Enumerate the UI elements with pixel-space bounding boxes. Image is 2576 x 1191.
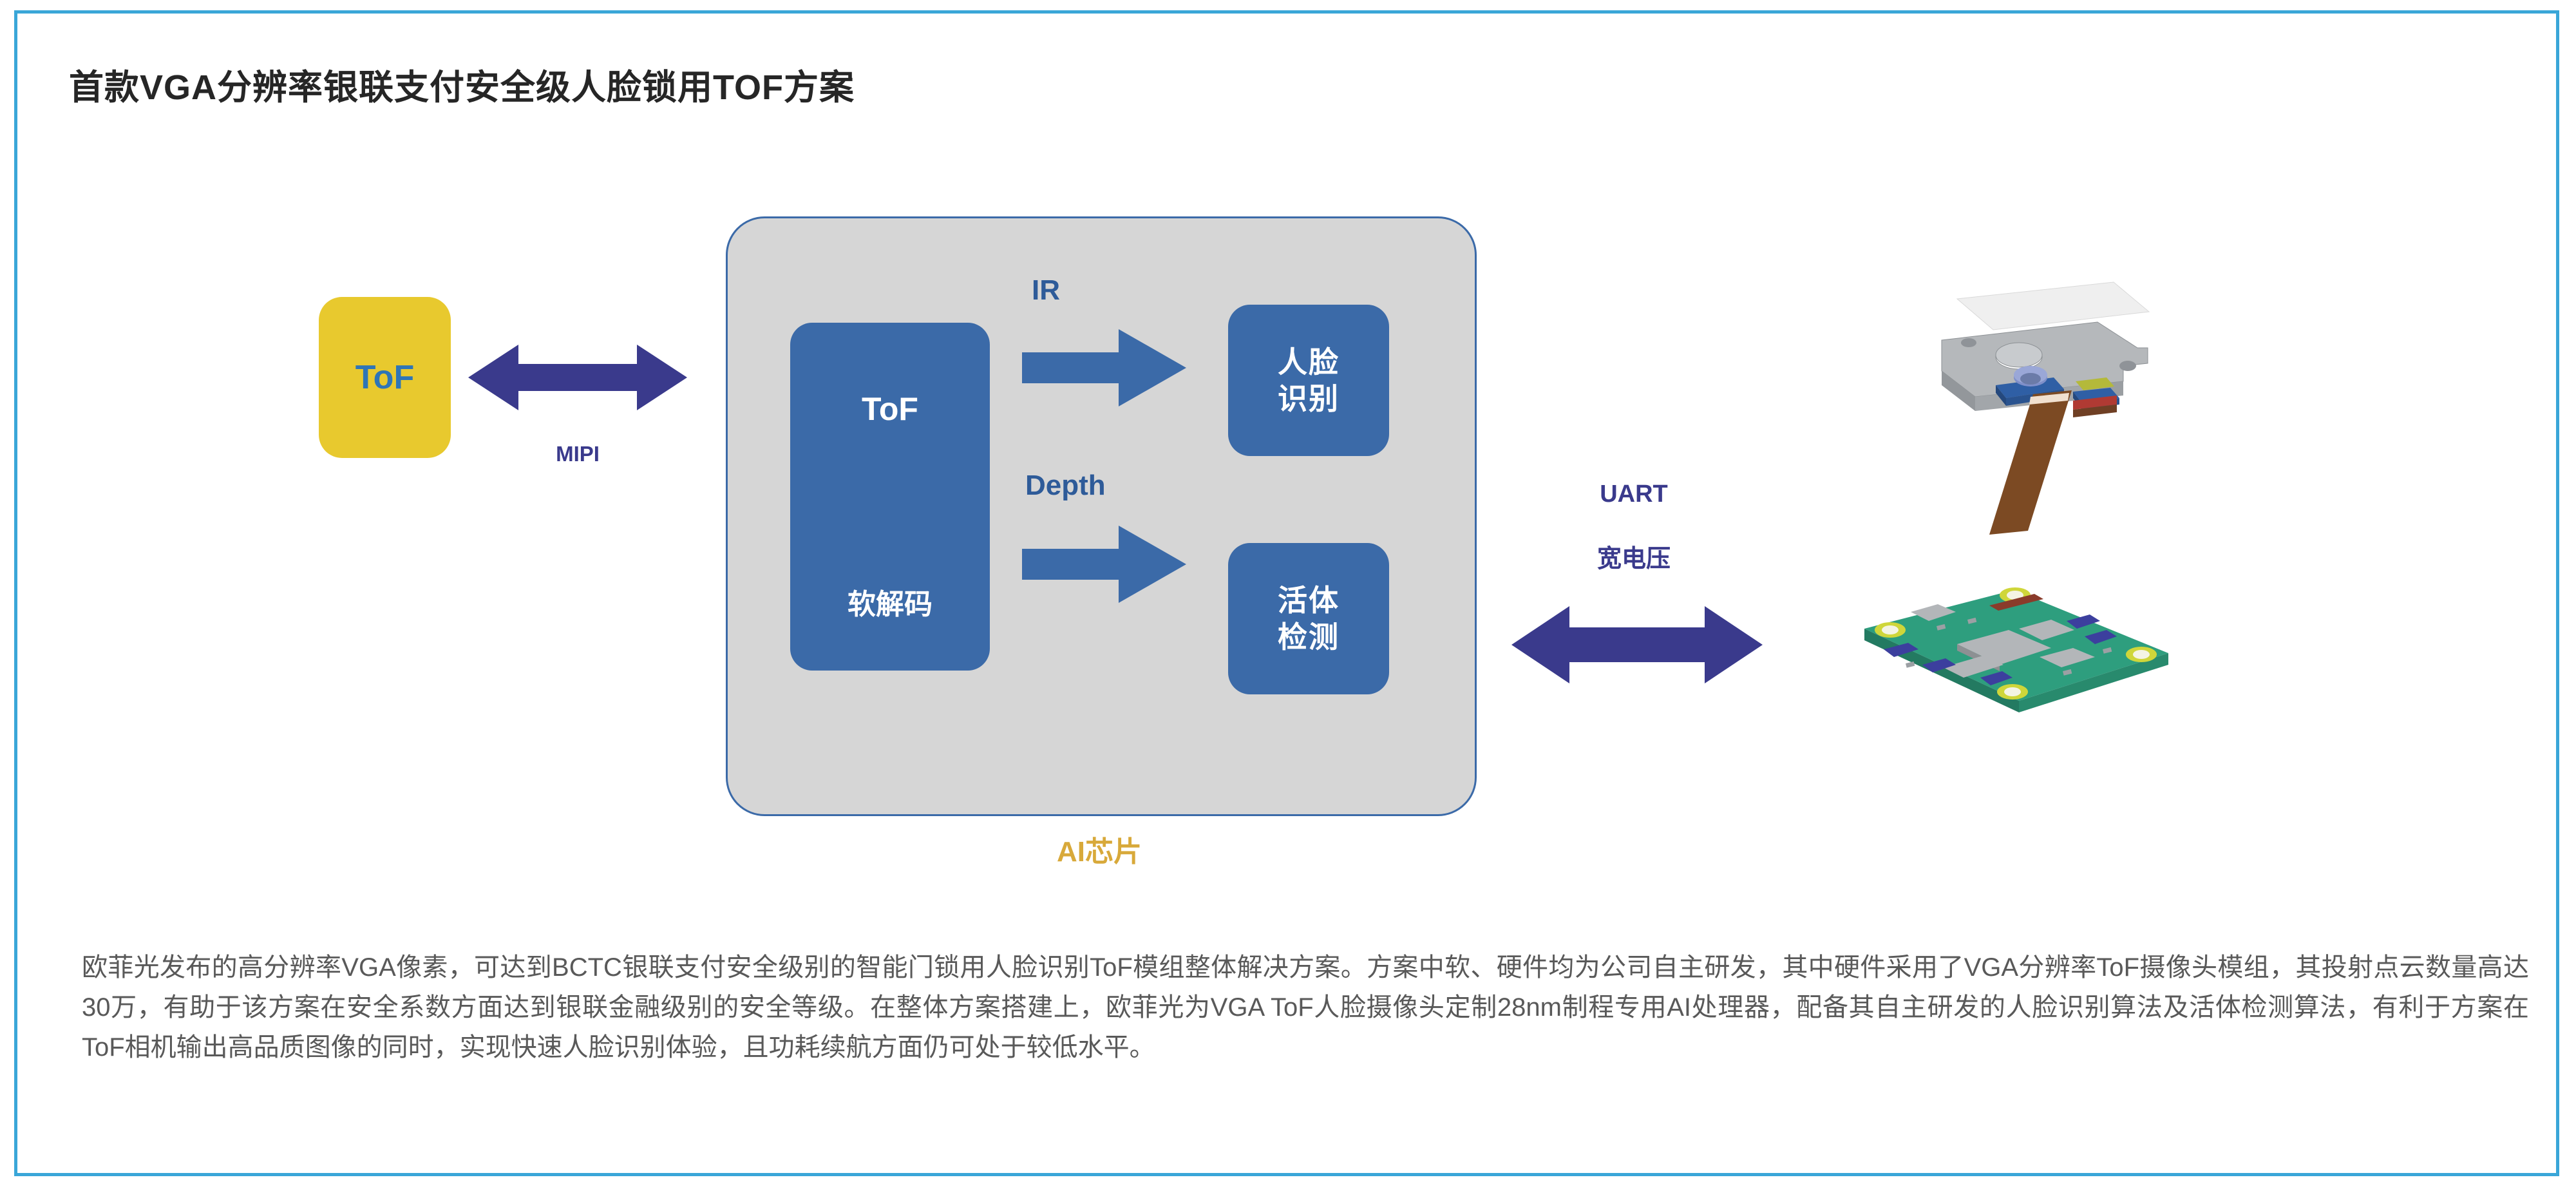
uart-label: UART [1550, 481, 1718, 508]
slide-card: 首款VGA分辨率银联支付安全级人脸锁用TOF方案 ToF MIPI ToF 软解… [14, 10, 2559, 1176]
ir-flow-arrow-icon [1022, 329, 1186, 406]
tof-processing-block: ToF 软解码 [790, 323, 990, 671]
tof-processing-bottom-label: 软解码 [790, 581, 990, 622]
liveness-detection-label-line2: 检测 [1278, 619, 1340, 655]
ir-flow-label: IR [1032, 274, 1060, 307]
face-recognition-label-line2: 识别 [1278, 381, 1340, 417]
tof-sensor-block: ToF [319, 297, 451, 458]
ai-chip-caption: AI芯片 [726, 828, 1473, 870]
architecture-diagram: ToF MIPI ToF 软解码 IR Depth [17, 168, 2556, 909]
page-title: 首款VGA分辨率银联支付安全级人脸锁用TOF方案 [69, 59, 855, 110]
mipi-bidirectional-arrow-icon [468, 342, 687, 413]
depth-flow-label: Depth [1025, 470, 1106, 502]
face-recognition-block: 人脸 识别 [1228, 305, 1389, 456]
liveness-detection-block: 活体 检测 [1228, 543, 1389, 694]
mipi-label: MIPI [533, 442, 623, 466]
description-paragraph: 欧菲光发布的高分辨率VGA像素，可达到BCTC银联支付安全级别的智能门锁用人脸识… [82, 948, 2529, 1067]
hardware-module-image [1846, 268, 2188, 790]
tof-sensor-label: ToF [355, 358, 414, 397]
uart-bidirectional-arrow-icon [1511, 603, 1763, 687]
face-recognition-label-line1: 人脸 [1278, 344, 1340, 380]
wide-voltage-label: 宽电压 [1550, 538, 1718, 574]
liveness-detection-label-line1: 活体 [1278, 582, 1340, 618]
depth-flow-arrow-icon [1022, 526, 1186, 603]
tof-processing-top-label: ToF [790, 390, 990, 428]
